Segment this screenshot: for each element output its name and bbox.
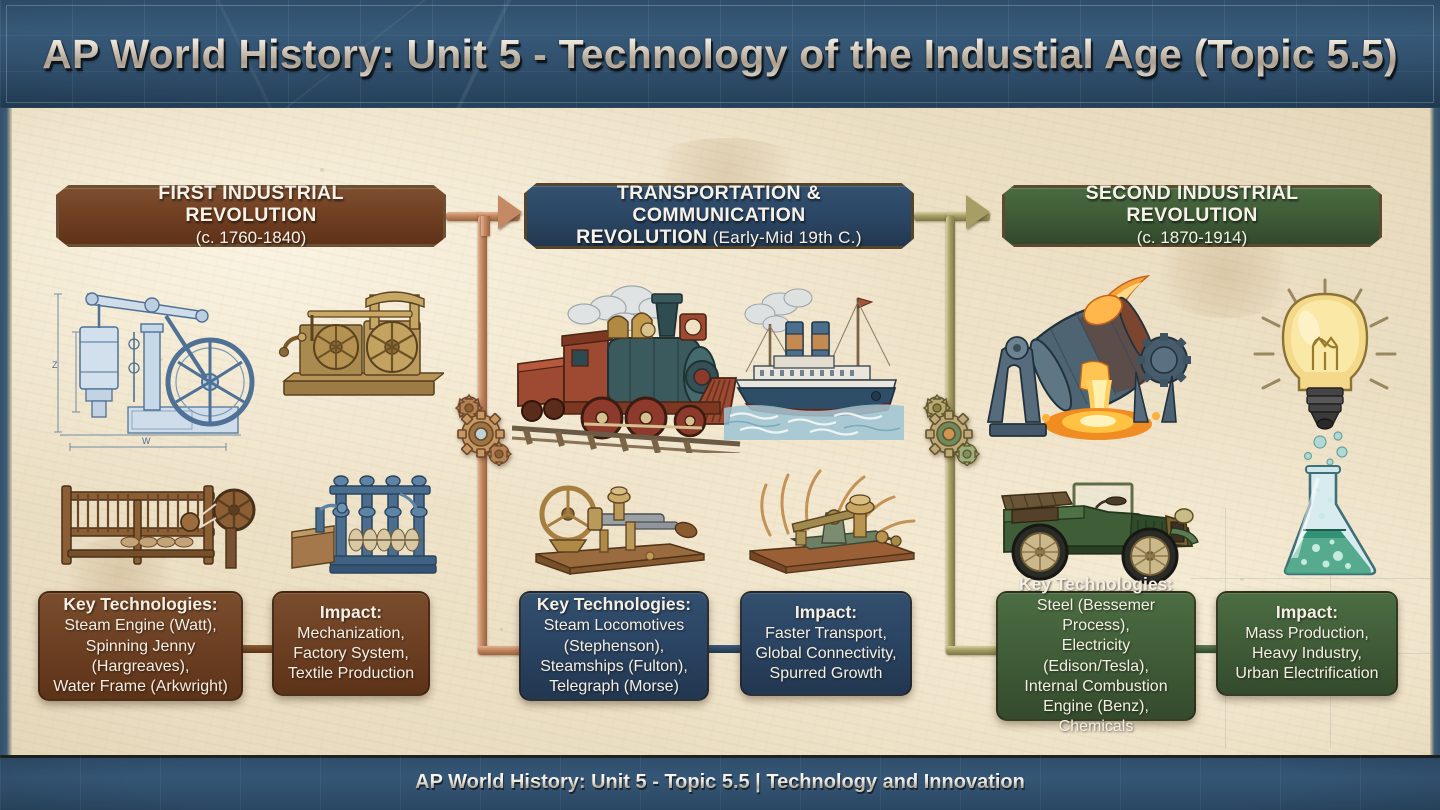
steam-engine-blueprint-illustration: Z W <box>46 272 276 462</box>
phase-banner-transportation-communication-revolution[interactable]: TRANSPORTATION & COMMUNICATION REVOLUTIO… <box>524 183 914 249</box>
box-body: Faster Transport, Global Connectivity, S… <box>755 624 896 684</box>
key-technologies-box-second-industrial-revolution[interactable]: Key Technologies: Steel (Bessemer Proces… <box>996 591 1196 721</box>
key-technologies-box-first-industrial-revolution[interactable]: Key Technologies: Steam Engine (Watt), S… <box>38 591 243 701</box>
left-edge-trim <box>0 108 12 755</box>
steamship-illustration <box>724 280 904 440</box>
box-heading: Impact: <box>795 602 857 623</box>
phase-title-line-1: TRANSPORTATION & COMMUNICATION <box>561 183 877 227</box>
footer-text: AP World History: Unit 5 - Topic 5.5 | T… <box>415 771 1025 794</box>
box-body: Steam Engine (Watt), Spinning Jenny (Har… <box>53 616 228 697</box>
phase-title-word: REVOLUTION <box>576 226 707 248</box>
gear-icon <box>919 392 983 466</box>
telegraph-machine-illustration <box>530 478 710 578</box>
box-heading: Impact: <box>1276 602 1338 623</box>
gear-icon <box>451 392 515 466</box>
phase-subtitle: (c. 1870-1914) <box>1137 228 1248 248</box>
box-heading: Key Technologies: <box>537 594 691 615</box>
right-edge-trim <box>1430 108 1440 755</box>
impact-box-transportation-communication-revolution[interactable]: Impact: Faster Transport, Global Connect… <box>740 591 912 696</box>
spinning-jenny-illustration <box>54 462 266 574</box>
phase-subtitle: (c. 1760-1840) <box>196 228 307 248</box>
phase-banner-second-industrial-revolution[interactable]: SECOND INDUSTRIAL REVOLUTION (c. 1870-19… <box>1002 185 1382 247</box>
phase-subtitle-text: (Early-Mid 19th C.) <box>713 228 862 247</box>
connector-arrowhead <box>966 195 990 229</box>
phase-banner-first-industrial-revolution[interactable]: FIRST INDUSTRIAL REVOLUTION (c. 1760-184… <box>56 185 446 247</box>
footer-bar: AP World History: Unit 5 - Topic 5.5 | T… <box>0 755 1440 810</box>
box-heading: Key Technologies: <box>1019 574 1173 595</box>
box-heading: Key Technologies: <box>63 594 217 615</box>
water-frame-illustration <box>290 468 450 580</box>
box-heading: Impact: <box>320 602 382 623</box>
parchment-speck <box>320 168 324 172</box>
key-technologies-box-transportation-communication-revolution[interactable]: Key Technologies: Steam Locomotives (Ste… <box>519 591 709 701</box>
connector-arrowhead <box>498 195 522 229</box>
box-body: Steel (Bessemer Process), Electricity (E… <box>1008 596 1184 737</box>
phase-title: FIRST INDUSTRIAL REVOLUTION <box>93 183 409 227</box>
chemistry-flask-illustration <box>1250 430 1400 580</box>
bessemer-converter-illustration <box>986 272 1206 462</box>
phase-title: SECOND INDUSTRIAL REVOLUTION <box>1039 183 1345 227</box>
parchment-speck <box>500 628 503 631</box>
title-banner: AP World History: Unit 5 - Technology of… <box>0 0 1440 108</box>
telegraph-key-illustration <box>730 455 920 580</box>
box-body: Steam Locomotives (Stephenson), Steamshi… <box>540 616 688 697</box>
light-bulb-illustration <box>1245 272 1405 437</box>
impact-box-first-industrial-revolution[interactable]: Impact: Mechanization, Factory System, T… <box>272 591 430 696</box>
connector-pipe-bottom <box>946 646 998 655</box>
svg-text:Z: Z <box>52 360 58 370</box>
page-title: AP World History: Unit 5 - Technology of… <box>0 0 1440 108</box>
steam-locomotive-illustration <box>512 278 747 453</box>
phase-title-line-2: REVOLUTION (Early-Mid 19th C.) <box>576 227 862 249</box>
infographic-root: AP World History: Unit 5 - Technology of… <box>0 0 1440 810</box>
svg-text:W: W <box>142 436 151 446</box>
impact-box-second-industrial-revolution[interactable]: Impact: Mass Production, Heavy Industry,… <box>1216 591 1398 696</box>
box-body: Mass Production, Heavy Industry, Urban E… <box>1235 624 1378 684</box>
box-body: Mechanization, Factory System, Textile P… <box>288 624 414 684</box>
model-t-automobile-illustration <box>988 470 1203 585</box>
connector-pipe-bend <box>481 216 490 236</box>
brass-beam-engine-illustration <box>276 285 444 403</box>
